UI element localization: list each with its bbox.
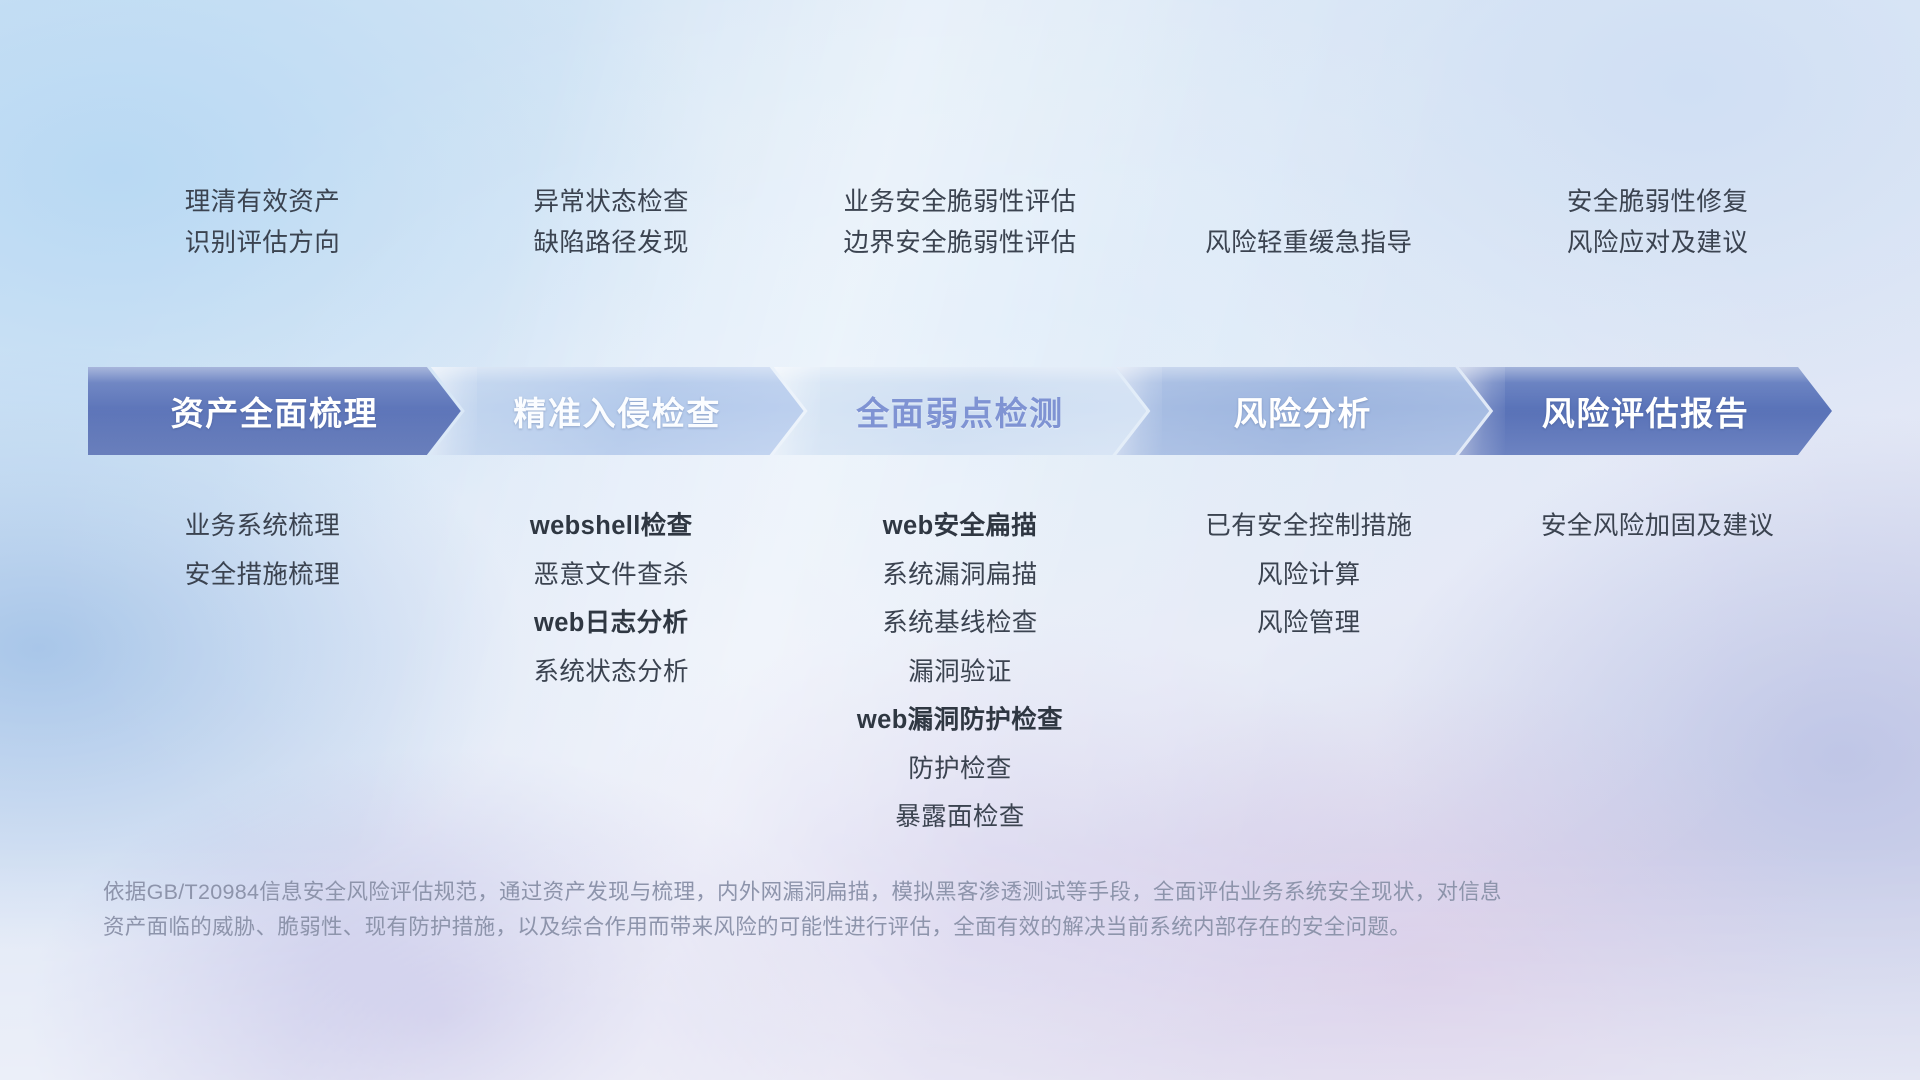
top-note-line: 安全脆弱性修复 — [1567, 182, 1748, 223]
list-item: web安全扁描 — [883, 502, 1037, 551]
chevron-stage-asset-inventory[interactable]: 资产全面梳理 — [88, 367, 461, 455]
list-item: web漏洞防护检查 — [857, 696, 1063, 745]
top-note-line: 识别评估方向 — [185, 223, 340, 264]
chevron-label: 风险分析 — [1234, 387, 1372, 435]
list-item: 恶意文件查杀 — [533, 551, 688, 600]
list-item: 暴露面检查 — [895, 793, 1025, 842]
chevron-stage-intrusion-check[interactable]: 精准入侵检查 — [431, 367, 804, 455]
chevron-label: 全面弱点检测 — [856, 387, 1064, 435]
list-item: 系统基线检查 — [882, 599, 1037, 648]
chevron-label: 精准入侵检查 — [513, 387, 721, 435]
footer-description: 依据GB/T20984信息安全风险评估规范，通过资产发现与梳理，内外网漏洞扁描，… — [103, 875, 1723, 944]
top-note-line: 边界安全脆弱性评估 — [843, 223, 1076, 264]
top-note-line: 缺陷路径发现 — [533, 223, 688, 264]
top-notes-stage-5: 安全脆弱性修复 风险应对及建议 — [1483, 182, 1832, 264]
list-item: webshell检查 — [530, 502, 693, 551]
detail-list-stage-4: 已有安全控制措施 风险计算 风险管理 — [1134, 502, 1483, 648]
detail-list-stage-2: webshell检查 恶意文件查杀 web日志分析 系统状态分析 — [437, 502, 786, 696]
list-item: 业务系统梳理 — [185, 502, 340, 551]
list-item: 系统漏洞扁描 — [882, 551, 1037, 600]
chevron-stage-risk-analysis[interactable]: 风险分析 — [1116, 367, 1489, 455]
stage-detail-lists: 业务系统梳理 安全措施梳理 webshell检查 恶意文件查杀 web日志分析 … — [88, 502, 1832, 842]
process-chevron-banner: 资产全面梳理 精准入侵检查 全面弱点检测 风险分析 风险评估报告 — [88, 367, 1832, 455]
top-note-line: 业务安全脆弱性评估 — [843, 182, 1076, 223]
top-note-line: 风险应对及建议 — [1567, 223, 1748, 264]
list-item: 风险管理 — [1257, 599, 1361, 648]
top-notes-stage-3: 业务安全脆弱性评估 边界安全脆弱性评估 — [786, 182, 1135, 264]
detail-list-stage-1: 业务系统梳理 安全措施梳理 — [88, 502, 437, 599]
chevron-stage-weakness-detection[interactable]: 全面弱点检测 — [774, 367, 1147, 455]
top-note-line: 异常状态检查 — [533, 182, 688, 223]
top-notes-stage-1: 理清有效资产 识别评估方向 — [88, 182, 437, 264]
list-item: 风险计算 — [1257, 551, 1361, 600]
chevron-label: 风险评估报告 — [1542, 387, 1750, 435]
top-note-line: 理清有效资产 — [185, 182, 340, 223]
list-item: 漏洞验证 — [908, 648, 1012, 697]
footer-line-1: 依据GB/T20984信息安全风险评估规范，通过资产发现与梳理，内外网漏洞扁描，… — [103, 875, 1723, 910]
top-note-line: 风险轻重缓急指导 — [1205, 223, 1412, 264]
list-item: 已有安全控制措施 — [1205, 502, 1412, 551]
detail-list-stage-5: 安全风险加固及建议 — [1483, 502, 1832, 551]
chevron-label: 资产全面梳理 — [171, 387, 379, 435]
footer-line-2: 资产面临的威胁、脆弱性、现有防护措施，以及综合作用而带来风险的可能性进行评估，全… — [103, 910, 1723, 945]
list-item: 安全风险加固及建议 — [1541, 502, 1774, 551]
list-item: 防护检查 — [908, 745, 1012, 794]
list-item: web日志分析 — [534, 599, 688, 648]
chevron-stage-risk-report[interactable]: 风险评估报告 — [1459, 367, 1832, 455]
list-item: 安全措施梳理 — [185, 551, 340, 600]
list-item: 系统状态分析 — [533, 648, 688, 697]
top-notes-row: 理清有效资产 识别评估方向 异常状态检查 缺陷路径发现 业务安全脆弱性评估 边界… — [88, 182, 1832, 264]
top-notes-stage-2: 异常状态检查 缺陷路径发现 — [437, 182, 786, 264]
detail-list-stage-3: web安全扁描 系统漏洞扁描 系统基线检查 漏洞验证 web漏洞防护检查 防护检… — [786, 502, 1135, 842]
top-notes-stage-4: 风险轻重缓急指导 — [1134, 182, 1483, 264]
